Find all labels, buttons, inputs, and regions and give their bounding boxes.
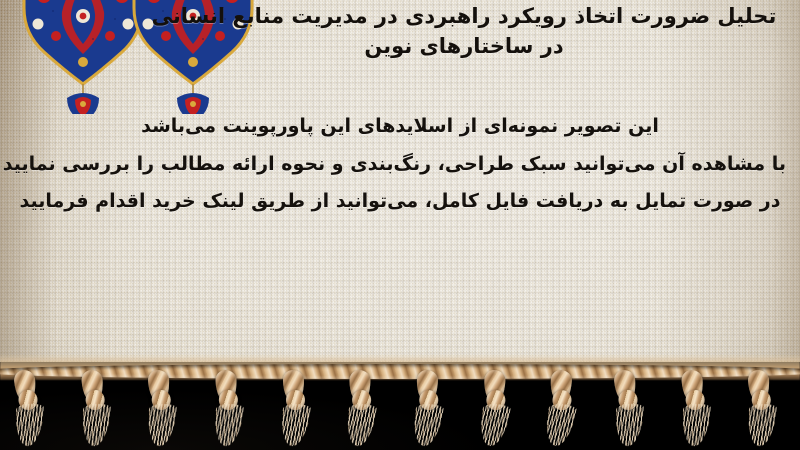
carpet-fringe-tassel	[744, 369, 777, 444]
carpet-fringe-tassel	[77, 369, 111, 444]
carpet-fringe-tassel	[411, 369, 444, 444]
carpet-fringe-tassel	[211, 370, 242, 445]
carpet-fringe-tassel	[477, 369, 511, 444]
slide-title-line-1: تحلیل ضرورت اتخاذ رویکرد راهبردی در مدیر…	[144, 2, 784, 32]
carpet-fringe-tassel	[609, 369, 644, 445]
tassel-strands	[146, 403, 178, 446]
tassel-strands	[278, 404, 311, 446]
slide-body-line-2: با مشاهده آن می‌توانید سبک طراحی، رنگ‌بن…	[14, 146, 786, 184]
slide-body-line-1: این تصویر نمونه‌ای از اسلایدهای این پاور…	[14, 108, 786, 146]
carpet-fringe-tassel	[144, 369, 177, 444]
tassel-strands	[410, 404, 445, 447]
slide-title: تحلیل ضرورت اتخاذ رویکرد راهبردی در مدیر…	[144, 2, 784, 62]
slide-body-line-3: در صورت تمایل به دریافت فایل کامل، می‌تو…	[14, 183, 786, 221]
tassel-strands	[542, 403, 578, 446]
carpet-fringe-tassel	[279, 370, 309, 444]
carpet-fringe-tassel	[543, 369, 578, 445]
carpet-fringe-tassel	[677, 369, 711, 444]
carpet-fringe	[0, 340, 800, 450]
tassel-strands	[614, 403, 644, 447]
tassel-strands	[680, 403, 711, 447]
tassel-strands	[746, 403, 778, 446]
carpet-fringe-tassel	[9, 369, 44, 445]
tassel-strands	[80, 403, 111, 447]
tassel-strands	[476, 403, 511, 446]
tassel-strands	[212, 404, 244, 447]
tassel-strands	[344, 404, 378, 446]
slide-body: این تصویر نمونه‌ای از اسلایدهای این پاور…	[14, 108, 786, 221]
slide-title-line-2: در ساختارهای نوین	[144, 32, 784, 62]
presentation-slide: تحلیل ضرورت اتخاذ رویکرد راهبردی در مدیر…	[0, 0, 800, 450]
carpet-fringe-tassel	[345, 370, 376, 445]
tassel-strands	[14, 403, 44, 447]
